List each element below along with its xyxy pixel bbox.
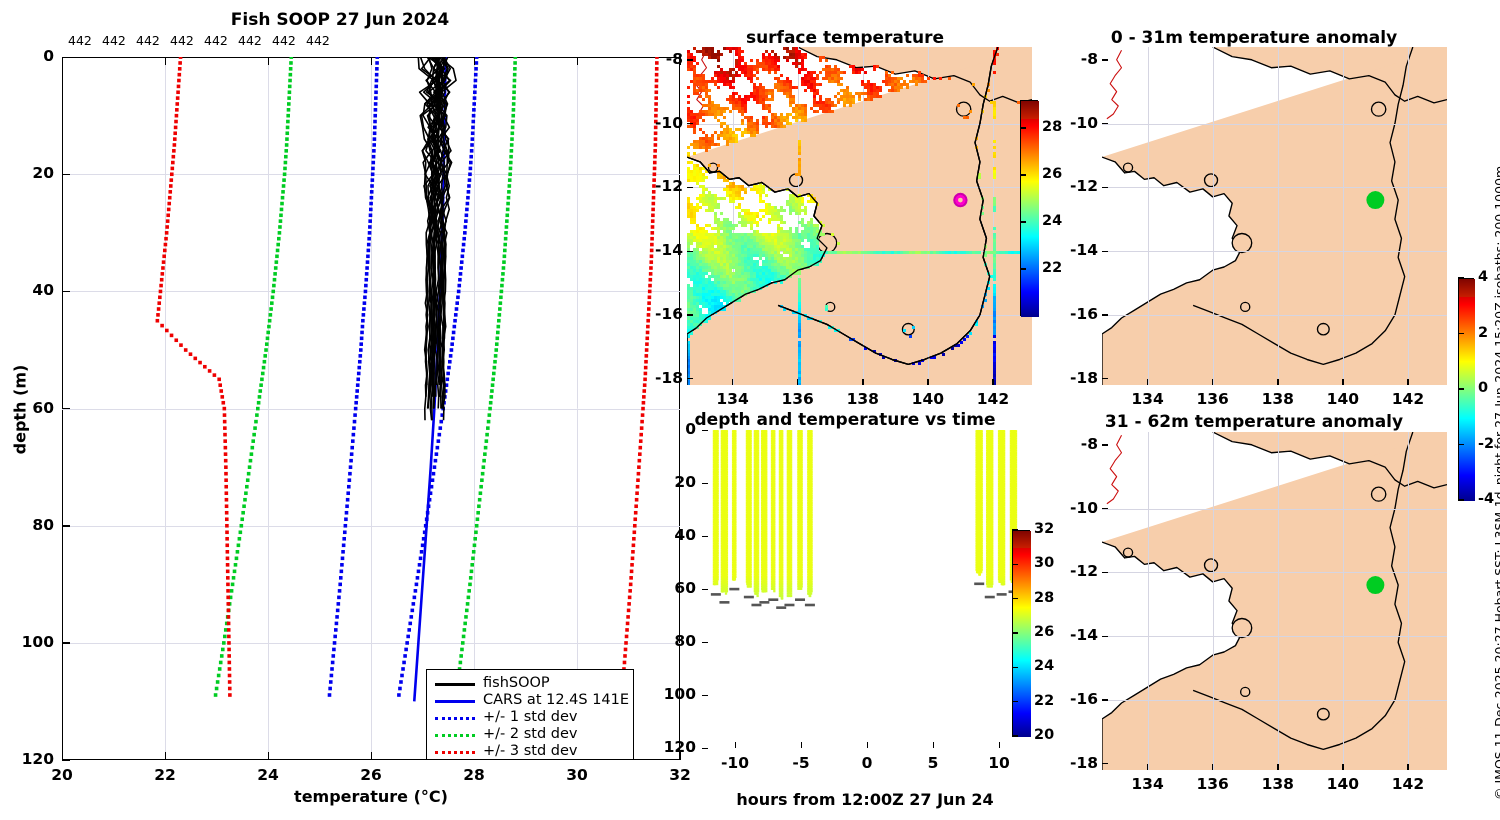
timeseries-ytick-label: 0 <box>654 420 696 438</box>
profile-legend: fishSOOPCARS at 12.4S 141E+/- 1 std dev+… <box>426 669 634 760</box>
sst-map-xtick <box>862 379 863 385</box>
anomaly-bottom-ytick-label: -14 <box>1058 626 1098 644</box>
profile-ytick <box>62 525 70 526</box>
profile-xtick-label: 28 <box>460 766 488 784</box>
profile-legend-label: CARS at 12.4S 141E <box>483 692 629 708</box>
anomaly-colorbar-label: 2 <box>1478 325 1488 341</box>
timeseries-xtick <box>933 742 934 748</box>
anomaly-bottom-xtick-label: 138 <box>1258 775 1298 793</box>
profile-xtick-top <box>371 57 372 65</box>
profile-legend-label: fishSOOP <box>483 675 550 691</box>
anomaly-bottom-xtick-label: 136 <box>1193 775 1233 793</box>
profile-xtick-top <box>268 57 269 65</box>
profile-legend-swatch <box>435 700 475 703</box>
timeseries-ytick-label: 120 <box>654 738 696 756</box>
profile-ytick-label: 40 <box>8 281 54 299</box>
timeseries-ytick <box>702 536 708 537</box>
sst-colorbar-tick <box>1020 174 1026 176</box>
sst-map-xtick <box>732 379 733 385</box>
anomaly-top-xtick <box>1342 379 1343 385</box>
profile-xtick-top <box>62 57 63 65</box>
sst-map-title: surface temperature <box>650 28 1040 48</box>
anomaly-bottom-ytick <box>1102 444 1108 445</box>
timeseries-ytick <box>702 748 708 749</box>
anomaly-top-ytick <box>1102 314 1108 315</box>
timeseries-ytick <box>702 483 708 484</box>
profile-header-count: 442 <box>204 33 228 48</box>
profile-xtick-label: 30 <box>563 766 591 784</box>
anomaly-bottom-ytick-label: -10 <box>1058 499 1098 517</box>
timeseries-colorbar-label: 28 <box>1034 590 1054 606</box>
anomaly-bottom-ytick-label: -18 <box>1058 754 1098 772</box>
timeseries-ytick-label: 20 <box>654 473 696 491</box>
anomaly-top-xtick <box>1277 379 1278 385</box>
sst-colorbar-tick <box>1020 127 1026 129</box>
sst-map-panel: surface temperature 134136138140142-8-10… <box>650 0 1070 400</box>
profile-header-count: 442 <box>170 33 194 48</box>
profile-ylabel: depth (m) <box>11 310 30 510</box>
timeseries-ytick-label: 60 <box>654 579 696 597</box>
profile-header-count: 442 <box>136 33 160 48</box>
profile-header-count: 442 <box>102 33 126 48</box>
timeseries-ytick <box>702 642 708 643</box>
sst-map-ytick-label: -14 <box>643 241 683 259</box>
profile-panel: Fish SOOP 27 Jun 2024 442442442442442442… <box>0 0 680 820</box>
profile-ytick <box>62 408 70 409</box>
profile-ytick <box>62 57 70 58</box>
timeseries-xtick-label: 10 <box>979 754 1019 772</box>
anomaly-colorbar-tick <box>1458 444 1464 446</box>
anomaly-top-ytick <box>1102 187 1108 188</box>
profile-ytick <box>62 291 70 292</box>
profile-xtick-label: 26 <box>357 766 385 784</box>
profile-xtick-top <box>474 57 475 65</box>
timeseries-colorbar-tick <box>1012 667 1018 669</box>
anomaly-top-panel: 0 - 31m temperature anomaly 134136138140… <box>1060 0 1480 400</box>
timeseries-colorbar-tick <box>1012 529 1018 531</box>
profile-ytick-label: 0 <box>8 47 54 65</box>
anomaly-colorbar-label: 0 <box>1478 380 1488 396</box>
sst-colorbar-tick <box>1020 268 1026 270</box>
timeseries-xtick-label: 0 <box>847 754 887 772</box>
profile-legend-swatch <box>435 683 475 686</box>
sst-map-xtick <box>797 379 798 385</box>
profile-header-count: 442 <box>272 33 296 48</box>
profile-ytick-label: 80 <box>8 516 54 534</box>
timeseries-colorbar-tick <box>1012 701 1018 703</box>
profile-xlabel: temperature (°C) <box>62 787 680 806</box>
sst-map-ytick <box>687 378 693 379</box>
timeseries-ytick-label: 100 <box>654 685 696 703</box>
sst-map-ytick-label: -16 <box>643 305 683 323</box>
timeseries-ytick-label: 40 <box>654 526 696 544</box>
anomaly-colorbar-tick <box>1458 499 1464 501</box>
timeseries-colorbar-tick <box>1012 598 1018 600</box>
timeseries-colorbar-label: 26 <box>1034 624 1054 640</box>
sst-map-xtick <box>927 379 928 385</box>
profile-ytick <box>62 642 70 643</box>
anomaly-top-ytick <box>1102 59 1108 60</box>
timeseries-colorbar-label: 30 <box>1034 555 1054 571</box>
timeseries-colorbar-tick <box>1012 564 1018 566</box>
anomaly-top-xtick <box>1407 379 1408 385</box>
anomaly-top-xtick <box>1212 379 1213 385</box>
timeseries-xtick <box>999 742 1000 748</box>
timeseries-xtick-label: -5 <box>781 754 821 772</box>
timeseries-colorbar-label: 20 <box>1034 727 1054 743</box>
anomaly-bottom-canvas <box>1102 432 1447 770</box>
timeseries-colorbar-label: 32 <box>1034 521 1054 537</box>
anomaly-top-ytick-label: -8 <box>1058 50 1098 68</box>
sst-map-ytick <box>687 123 693 124</box>
anomaly-bottom-ytick <box>1102 572 1108 573</box>
timeseries-xtick-label: -10 <box>715 754 755 772</box>
anomaly-bottom-ytick <box>1102 763 1108 764</box>
timeseries-colorbar-label: 24 <box>1034 658 1054 674</box>
anomaly-top-ytick <box>1102 123 1108 124</box>
sst-map-ytick <box>687 59 693 60</box>
profile-title: Fish SOOP 27 Jun 2024 <box>0 10 680 30</box>
profile-header-count: 442 <box>238 33 262 48</box>
anomaly-bottom-xtick <box>1147 764 1148 770</box>
anomaly-bottom-ytick-label: -8 <box>1058 435 1098 453</box>
timeseries-xtick <box>735 742 736 748</box>
anomaly-top-ytick-label: -16 <box>1058 305 1098 323</box>
profile-ytick <box>62 760 70 761</box>
sst-map-canvas <box>687 47 1032 385</box>
sst-colorbar-gradient <box>1021 101 1039 317</box>
timeseries-colorbar-tick <box>1012 735 1018 737</box>
anomaly-bottom-ytick <box>1102 699 1108 700</box>
anomaly-bottom-ytick-label: -16 <box>1058 690 1098 708</box>
anomaly-colorbar-tick <box>1458 277 1464 279</box>
anomaly-bottom-xtick <box>1212 764 1213 770</box>
anomaly-bottom-xtick-label: 134 <box>1128 775 1168 793</box>
anomaly-bottom-ytick <box>1102 508 1108 509</box>
profile-xtick-label: 20 <box>48 766 76 784</box>
anomaly-top-ytick-label: -12 <box>1058 177 1098 195</box>
anomaly-bottom-xtick <box>1407 764 1408 770</box>
anomaly-top-xtick <box>1147 379 1148 385</box>
profile-legend-swatch <box>435 751 475 754</box>
sst-map-ytick-label: -8 <box>643 50 683 68</box>
profile-plot-canvas <box>62 57 680 760</box>
profile-legend-label: +/- 3 std dev <box>483 743 577 759</box>
anomaly-bottom-xtick <box>1342 764 1343 770</box>
profile-ytick-label: 20 <box>8 164 54 182</box>
profile-xtick-top <box>577 57 578 65</box>
anomaly-top-ytick-label: -14 <box>1058 241 1098 259</box>
timeseries-ytick <box>702 695 708 696</box>
sst-map-ytick <box>687 251 693 252</box>
timeseries-xtick <box>801 742 802 748</box>
anomaly-colorbar-label: 4 <box>1478 269 1488 285</box>
anomaly-bottom-xtick-label: 140 <box>1323 775 1363 793</box>
timeseries-colorbar-gradient <box>1013 531 1031 737</box>
profile-legend-swatch <box>435 734 475 737</box>
timeseries-ytick <box>702 430 708 431</box>
anomaly-bottom-xtick-label: 142 <box>1388 775 1428 793</box>
anomaly-colorbar-tick <box>1458 388 1464 390</box>
anomaly-colorbar-gradient <box>1459 279 1475 501</box>
sst-colorbar-tick <box>1020 221 1026 223</box>
profile-header-count: 442 <box>68 33 92 48</box>
anomaly-top-canvas <box>1102 47 1447 385</box>
profile-xtick <box>371 752 372 760</box>
timeseries-ytick <box>702 589 708 590</box>
profile-ytick <box>62 174 70 175</box>
anomaly-colorbar-tick <box>1458 333 1464 335</box>
timeseries-canvas <box>702 430 1032 748</box>
timeseries-colorbar-tick <box>1012 632 1018 634</box>
anomaly-top-title: 0 - 31m temperature anomaly <box>1060 28 1448 48</box>
profile-xtick <box>165 752 166 760</box>
timeseries-xlabel: hours from 12:00Z 27 Jun 24 <box>680 790 1050 809</box>
sst-colorbar <box>1020 100 1038 316</box>
anomaly-bottom-ytick <box>1102 636 1108 637</box>
timeseries-xtick-label: 5 <box>913 754 953 772</box>
anomaly-top-ytick-label: -10 <box>1058 114 1098 132</box>
profile-legend-label: +/- 1 std dev <box>483 709 577 725</box>
timeseries-colorbar-label: 22 <box>1034 693 1054 709</box>
sst-map-ytick-label: -18 <box>643 369 683 387</box>
anomaly-bottom-ytick-label: -12 <box>1058 562 1098 580</box>
profile-xtick <box>268 752 269 760</box>
sst-map-ytick-label: -10 <box>643 114 683 132</box>
sst-map-ytick <box>687 314 693 315</box>
anomaly-bottom-panel: 31 - 62m temperature anomaly 13413613814… <box>1060 400 1480 820</box>
anomaly-bottom-title: 31 - 62m temperature anomaly <box>1060 412 1448 432</box>
anomaly-top-ytick-label: -18 <box>1058 369 1098 387</box>
sst-map-ytick-label: -12 <box>643 177 683 195</box>
timeseries-ytick-label: 80 <box>654 632 696 650</box>
profile-ytick-label: 100 <box>8 633 54 651</box>
timeseries-title: depth and temperature vs time <box>650 410 1040 430</box>
profile-legend-swatch <box>435 717 475 720</box>
profile-header-count: 442 <box>306 33 330 48</box>
sst-map-ytick <box>687 187 693 188</box>
anomaly-top-ytick <box>1102 378 1108 379</box>
profile-xtick-label: 22 <box>151 766 179 784</box>
profile-xtick-top <box>165 57 166 65</box>
anomaly-top-ytick <box>1102 251 1108 252</box>
imos-credit-caption: © IMOS 11-Dec-2025 20:27 Hobart SST: L3S… <box>1492 166 1500 800</box>
sst-map-xtick <box>992 379 993 385</box>
profile-ytick-label: 120 <box>8 750 54 768</box>
profile-legend-label: +/- 2 std dev <box>483 726 577 742</box>
timeseries-panel: depth and temperature vs time -10-505100… <box>650 400 1070 820</box>
timeseries-xtick <box>867 742 868 748</box>
profile-xtick-label: 24 <box>254 766 282 784</box>
anomaly-bottom-xtick <box>1277 764 1278 770</box>
